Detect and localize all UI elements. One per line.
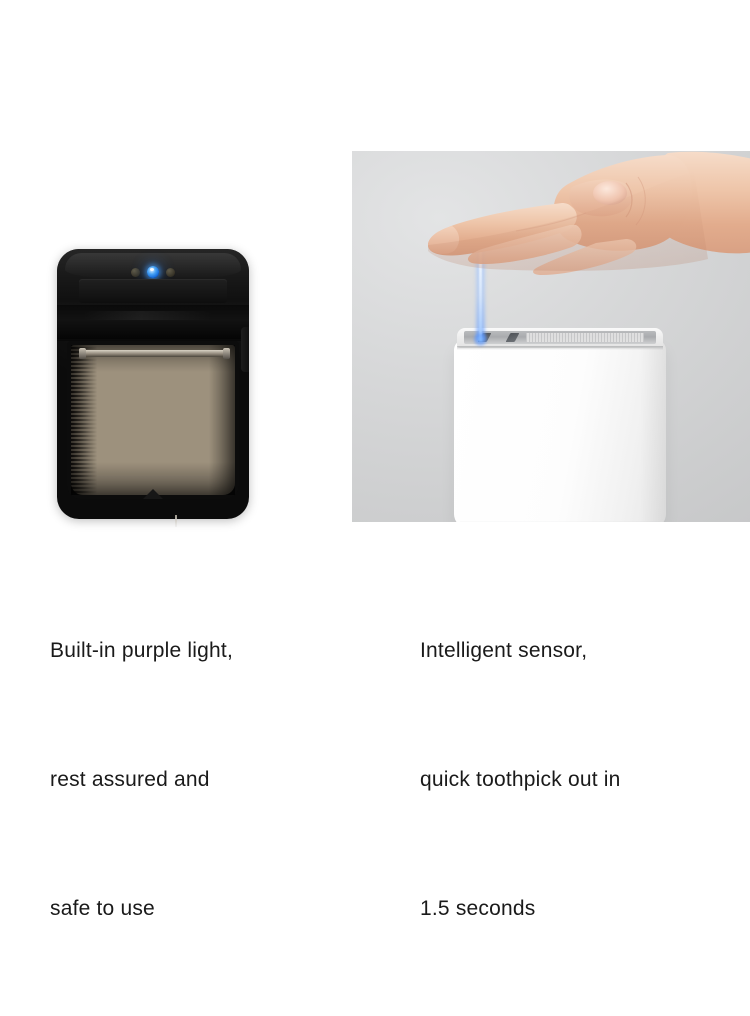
toothpick-stack: [71, 345, 235, 495]
device-base-highlight: [460, 521, 660, 522]
purple-light-led-icon: [147, 266, 159, 278]
dispense-slot-2: [506, 333, 520, 342]
bay-clip-left: [79, 348, 86, 359]
toothpick-shading: [71, 345, 235, 495]
bay-metal-rail: [81, 350, 227, 357]
right-caption-line-2: quick toothpick out in: [420, 758, 621, 801]
top-grill: [526, 333, 644, 342]
device-top-tray: [464, 331, 656, 344]
bay-clip-right: [223, 348, 230, 359]
sensor-cluster: [131, 266, 175, 278]
sensor-dot-left: [131, 268, 140, 277]
left-feature-panel: Built-in purple light, rest assured and …: [0, 0, 352, 750]
left-caption: Built-in purple light, rest assured and …: [50, 543, 233, 1016]
device-front-face: [454, 340, 666, 522]
sensor-emitter-glow-icon: [473, 332, 488, 347]
right-caption-line-3: 1.5 seconds: [420, 887, 621, 930]
right-feature-photo: [352, 151, 750, 522]
left-caption-line-3: safe to use: [50, 887, 233, 930]
dispenser-bottom-stem: [175, 515, 177, 527]
dispenser-lid: [57, 249, 249, 341]
product-feature-page: Built-in purple light, rest assured and …: [0, 0, 750, 750]
right-caption: Intelligent sensor, quick toothpick out …: [420, 543, 621, 1016]
left-caption-line-2: rest assured and: [50, 758, 233, 801]
device-top-edge-shadow: [457, 346, 663, 350]
hand-illustration: [420, 151, 750, 277]
device-right-face: [640, 340, 666, 522]
black-toothpick-dispenser-image: [57, 249, 249, 519]
left-caption-line-1: Built-in purple light,: [50, 629, 233, 672]
right-caption-line-1: Intelligent sensor,: [420, 629, 621, 672]
sensor-dot-right: [166, 268, 175, 277]
toothpick-bay: [67, 341, 239, 499]
white-toothpick-dispenser-image: [454, 328, 666, 522]
lid-front-slab: [79, 279, 227, 303]
dispenser-side-lug: [241, 327, 249, 372]
bay-bottom-notch: [142, 489, 164, 499]
lid-inner-glint: [83, 311, 213, 320]
